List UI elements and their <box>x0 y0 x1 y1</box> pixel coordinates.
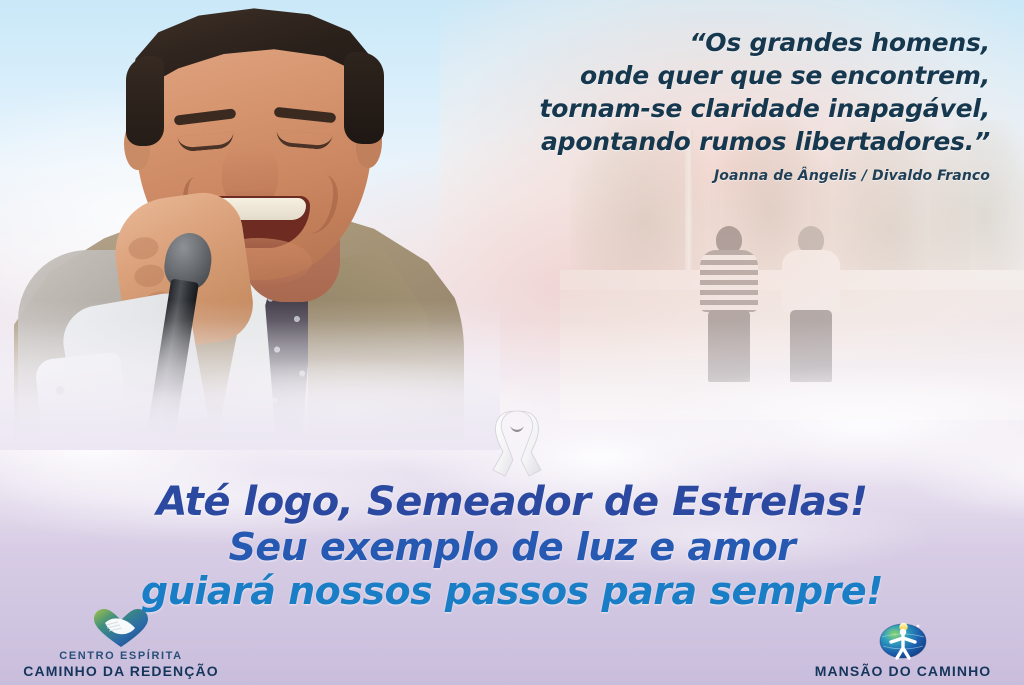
logo-right-line-bottom: MANSÃO DO CAMINHO <box>788 663 1018 679</box>
knuckle-icon <box>127 235 160 261</box>
headline-block: Até logo, Semeador de Estrelas! Seu exem… <box>0 482 1024 610</box>
logo-left-line-top: CENTRO ESPÍRITA <box>6 650 236 663</box>
heart-with-hand-icon <box>92 608 150 648</box>
hair-side-icon <box>126 56 164 146</box>
headline-line-2: Seu exemplo de luz e amor <box>0 528 1024 566</box>
white-ribbon <box>480 408 554 484</box>
person-torso-icon <box>700 250 758 312</box>
white-mourning-ribbon-icon <box>480 408 554 484</box>
headline-line-3: guiará nossos passos para sempre! <box>0 572 1024 610</box>
logo-mansao-do-caminho: MANSÃO DO CAMINHO <box>788 617 1018 679</box>
hair-side-icon <box>344 52 384 144</box>
quote-line-1: “Os grandes homens, <box>420 26 990 59</box>
headline-line-1: Até logo, Semeador de Estrelas! <box>0 482 1024 522</box>
quote-attribution: Joanna de Ângelis / Divaldo Franco <box>420 168 990 184</box>
portrait-fade-overlay <box>0 300 500 450</box>
globe-with-figure-and-flame-icon <box>877 617 929 661</box>
quote-line-2: onde quer que se encontrem, <box>420 59 990 92</box>
quote-line-3: tornam-se claridade inapagável, <box>420 92 990 125</box>
logo-left-line-bottom: CAMINHO DA REDENÇÃO <box>6 663 236 679</box>
person-torso-icon <box>782 250 840 312</box>
logo-centro-espirita-caminho-da-redencao: CENTRO ESPÍRITA CAMINHO DA REDENÇÃO <box>6 608 236 679</box>
quote-block: “Os grandes homens, onde quer que se enc… <box>420 26 990 184</box>
quote-line-4: apontando rumos libertadores.” <box>420 125 990 158</box>
memorial-poster: “Os grandes homens, onde quer que se enc… <box>0 0 1024 685</box>
